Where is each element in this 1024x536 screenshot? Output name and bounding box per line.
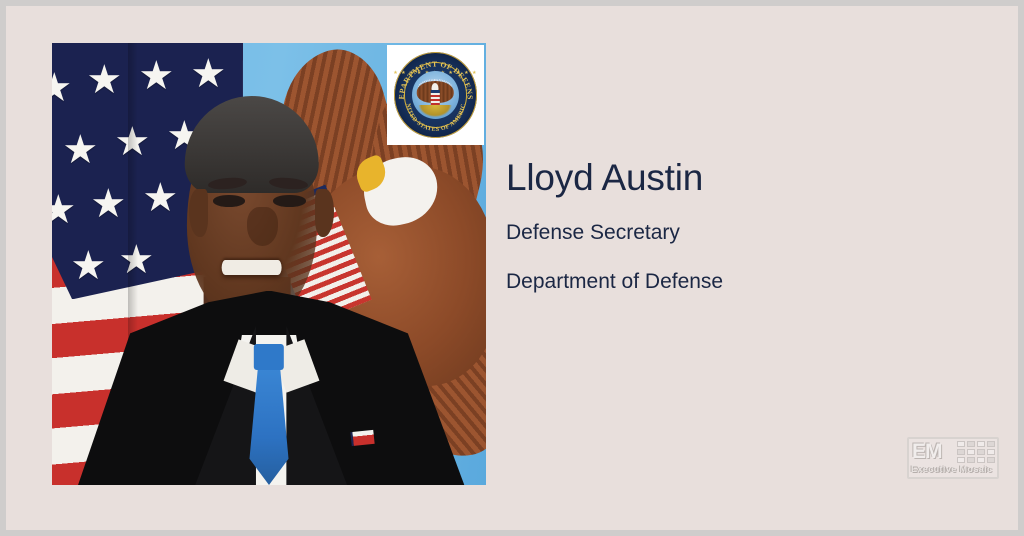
watermark-monogram: EM <box>912 441 942 462</box>
mosaic-cell <box>957 449 965 455</box>
watermark-mosaic-icon <box>957 441 995 463</box>
person-info-block: Lloyd Austin Defense Secretary Departmen… <box>506 158 976 294</box>
flag-star: ★ <box>142 178 178 218</box>
flag-star: ★ <box>190 54 226 94</box>
mosaic-cell <box>967 457 975 463</box>
mosaic-cell <box>967 441 975 447</box>
executive-mosaic-watermark: EM Executive Mosaic <box>899 431 1007 491</box>
flag-star: ★ <box>138 56 174 96</box>
mosaic-cell <box>957 457 965 463</box>
dod-seal-overlay: DEPARTMENT OF DEFENSE UNITED STATES OF A… <box>387 45 484 145</box>
necktie-knot <box>254 344 284 371</box>
mosaic-cell <box>977 457 985 463</box>
flag-star: ★ <box>62 130 98 170</box>
flag-star: ★ <box>52 190 76 230</box>
flag-star: ★ <box>52 68 72 108</box>
subject-nose <box>247 207 277 247</box>
us-flag-lapel-pin-icon <box>351 430 375 446</box>
subject-mouth <box>221 260 282 275</box>
seal-inner-disc <box>412 71 459 119</box>
mosaic-cell <box>967 449 975 455</box>
mosaic-cell <box>987 457 995 463</box>
seal-shield <box>431 90 439 104</box>
subject-eye-left <box>213 195 246 206</box>
portrait-image: ★ ★ ★ ★ ★ ★ ★ ★ ★ ★ ★ ★ <box>52 43 486 485</box>
flag-star: ★ <box>70 246 106 286</box>
seal-laurel-wreath <box>419 105 452 118</box>
watermark-brand-name: Executive Mosaic <box>911 465 992 474</box>
person-name: Lloyd Austin <box>506 158 976 198</box>
subject-eye-right <box>273 195 306 206</box>
content-card: ★ ★ ★ ★ ★ ★ ★ ★ ★ ★ ★ ★ <box>6 6 1018 530</box>
mosaic-cell <box>957 441 965 447</box>
dod-seal-icon: DEPARTMENT OF DEFENSE UNITED STATES OF A… <box>394 52 478 138</box>
subject-ear-left <box>189 189 209 238</box>
mosaic-cell <box>987 449 995 455</box>
mosaic-cell <box>977 441 985 447</box>
person-role: Defense Secretary <box>506 220 976 245</box>
mosaic-cell <box>977 449 985 455</box>
person-organization: Department of Defense <box>506 269 976 294</box>
mosaic-cell <box>987 441 995 447</box>
flag-star: ★ <box>90 184 126 224</box>
flag-star: ★ <box>86 60 122 100</box>
